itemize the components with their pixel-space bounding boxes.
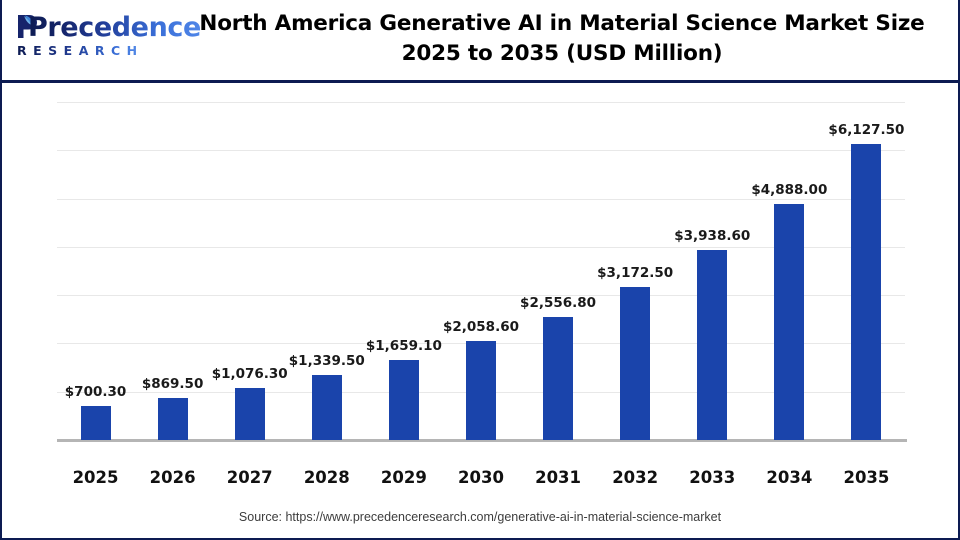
bar-value-label: $4,888.00 (751, 182, 827, 198)
bar (697, 250, 727, 440)
bar-group: $2,058.60 (442, 102, 519, 440)
chart-infographic: Precedence RESEARCH North America Genera… (0, 0, 960, 540)
bar-value-label: $2,058.60 (443, 319, 519, 335)
bar (466, 341, 496, 440)
bar (81, 406, 111, 440)
header-bar: Precedence RESEARCH North America Genera… (2, 0, 958, 83)
bar-value-label: $1,339.50 (289, 353, 365, 369)
bar-value-label: $1,659.10 (366, 338, 442, 354)
bar-value-label: $1,076.30 (212, 366, 288, 382)
bar (774, 204, 804, 440)
bar-group: $700.30 (57, 102, 134, 440)
bar-value-label: $6,127.50 (828, 122, 904, 138)
bar-value-label: $700.30 (65, 384, 127, 400)
bar-value-label: $2,556.80 (520, 295, 596, 311)
x-tick-2027: 2027 (211, 468, 288, 487)
bar-group: $6,127.50 (828, 102, 905, 440)
bar-group: $3,938.60 (674, 102, 751, 440)
bar (312, 375, 342, 440)
logo-wordmark: Precedence (28, 12, 201, 43)
bar-group: $1,339.50 (288, 102, 365, 440)
x-tick-2025: 2025 (57, 468, 134, 487)
bar-group: $1,076.30 (211, 102, 288, 440)
bar-group: $1,659.10 (365, 102, 442, 440)
bar-group: $3,172.50 (597, 102, 674, 440)
chart-canvas: $700.30$869.50$1,076.30$1,339.50$1,659.1… (2, 83, 958, 536)
logo-subtitle: RESEARCH (17, 43, 144, 58)
bar-series: $700.30$869.50$1,076.30$1,339.50$1,659.1… (57, 102, 905, 440)
source-attribution: Source: https://www.precedenceresearch.c… (2, 510, 958, 524)
bar-value-label: $3,938.60 (674, 228, 750, 244)
bar-value-label: $869.50 (142, 376, 204, 392)
bar-group: $2,556.80 (520, 102, 597, 440)
x-tick-2026: 2026 (134, 468, 211, 487)
bar (620, 287, 650, 440)
bar-group: $869.50 (134, 102, 211, 440)
bar (389, 360, 419, 440)
x-tick-2034: 2034 (751, 468, 828, 487)
x-tick-2028: 2028 (288, 468, 365, 487)
page-title: North America Generative AI in Material … (192, 9, 932, 69)
precedence-research-logo: Precedence RESEARCH (14, 10, 179, 62)
x-tick-2035: 2035 (828, 468, 905, 487)
x-tick-2029: 2029 (365, 468, 442, 487)
bar-value-label: $3,172.50 (597, 265, 673, 281)
bar (543, 317, 573, 440)
x-tick-2033: 2033 (674, 468, 751, 487)
bar (158, 398, 188, 440)
x-tick-2031: 2031 (520, 468, 597, 487)
x-tick-2030: 2030 (442, 468, 519, 487)
bar (235, 388, 265, 440)
bar-group: $4,888.00 (751, 102, 828, 440)
x-tick-2032: 2032 (597, 468, 674, 487)
bar (851, 144, 881, 440)
